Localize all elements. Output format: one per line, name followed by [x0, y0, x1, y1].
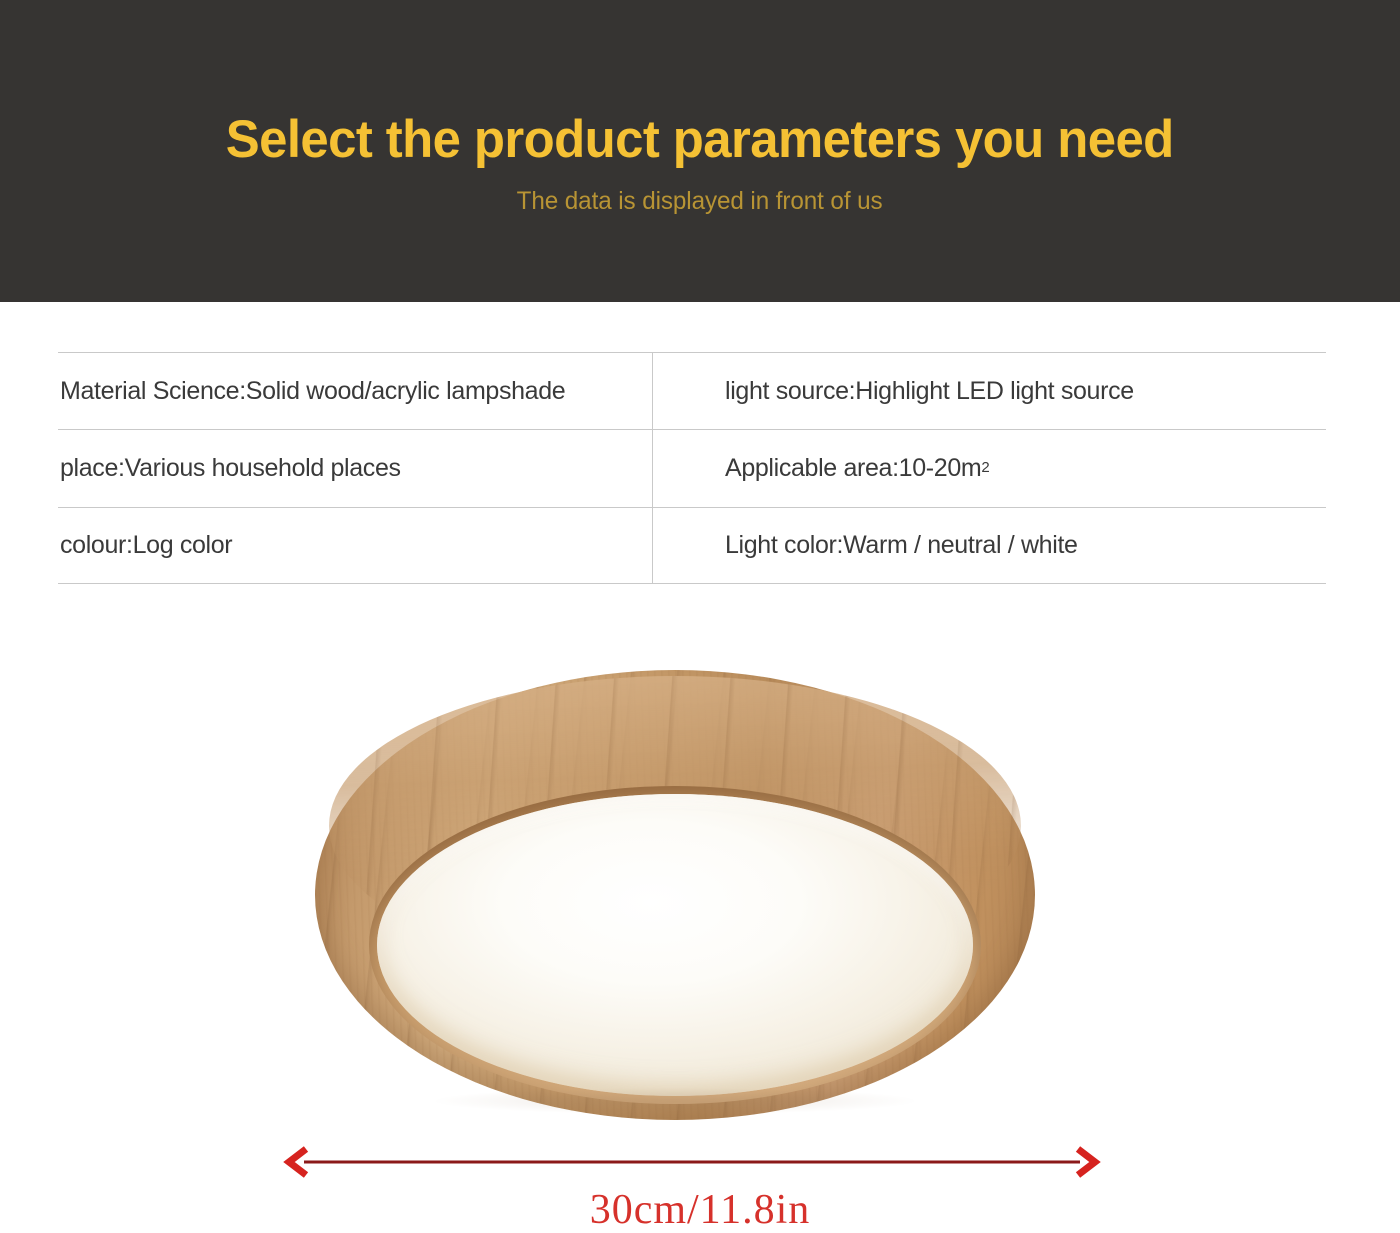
dimension-arrow	[282, 1146, 1102, 1180]
lamp-acrylic-diffuser	[377, 794, 973, 1096]
spec-text: Light color:Warm / neutral / white	[725, 531, 1078, 560]
arrow-left-icon	[289, 1149, 306, 1175]
spec-cell-applicable-area: Applicable area:10-20m2	[652, 430, 1326, 506]
spec-text: light source:Highlight LED light source	[725, 377, 1134, 406]
spec-table: Material Science:Solid wood/acrylic lamp…	[58, 352, 1326, 585]
header-banner: Select the product parameters you need T…	[0, 0, 1400, 302]
spec-cell-colour: colour:Log color	[58, 508, 652, 583]
arrow-right-icon	[1078, 1149, 1095, 1175]
page-subtitle: The data is displayed in front of us	[517, 187, 883, 216]
table-row: colour:Log color Light color:Warm / neut…	[58, 507, 1326, 584]
spec-cell-material: Material Science:Solid wood/acrylic lamp…	[58, 353, 652, 429]
product-detail-page: Select the product parameters you need T…	[0, 0, 1400, 1233]
spec-cell-light-color: Light color:Warm / neutral / white	[652, 508, 1326, 583]
product-lamp-image	[315, 670, 1035, 1120]
table-row: Material Science:Solid wood/acrylic lamp…	[58, 352, 1326, 429]
product-image-stage	[0, 600, 1400, 1160]
dimension-label: 30cm/11.8in	[0, 1186, 1400, 1233]
spec-cell-light-source: light source:Highlight LED light source	[652, 353, 1326, 429]
lamp-drop-shadow	[435, 1088, 915, 1114]
table-row: place:Various household places Applicabl…	[58, 429, 1326, 506]
spec-cell-place: place:Various household places	[58, 430, 652, 506]
page-title: Select the product parameters you need	[226, 112, 1174, 168]
spec-text: Applicable area:10-20m	[725, 454, 981, 483]
